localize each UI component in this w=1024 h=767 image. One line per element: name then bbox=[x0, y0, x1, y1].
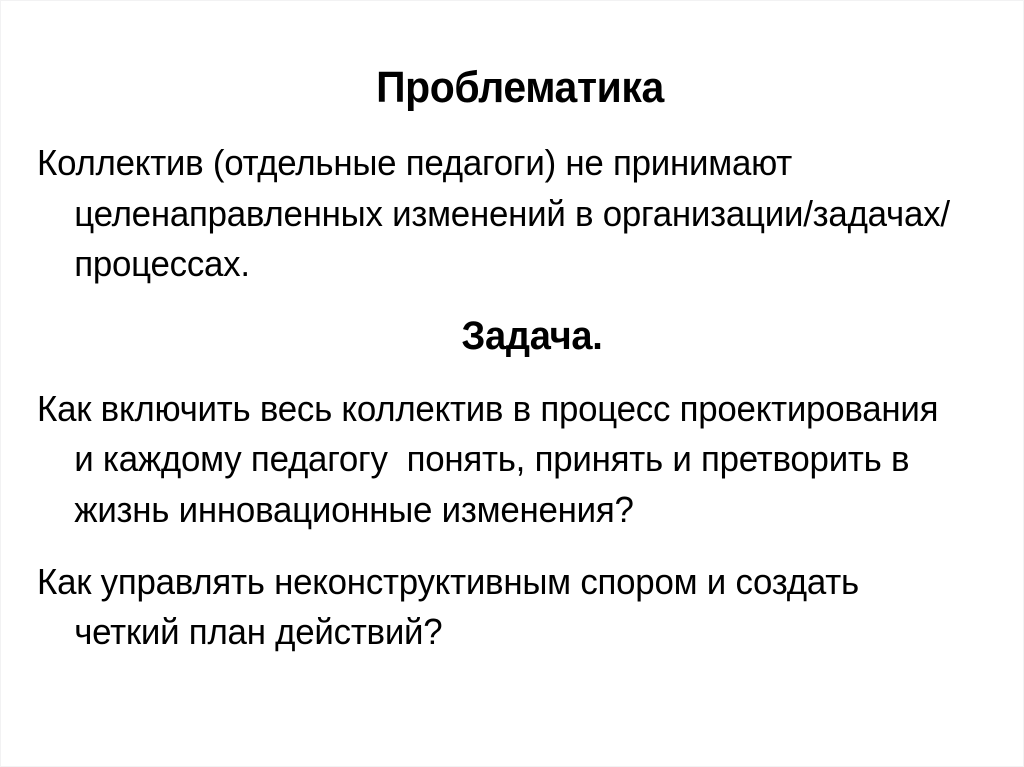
slide: Проблематика Коллектив (отдельные педаго… bbox=[0, 0, 1024, 767]
paragraph-task-question-1: Как включить весь коллектив в процесс пр… bbox=[37, 362, 960, 536]
paragraph-problem-statement: Коллектив (отдельные педагоги) не приним… bbox=[37, 112, 960, 290]
page-title: Проблематика bbox=[71, 1, 969, 112]
sub-heading-task: Задача. bbox=[73, 290, 991, 362]
slide-content-area: Проблематика Коллектив (отдельные педаго… bbox=[1, 1, 1024, 767]
paragraph-task-question-2: Как управлять неконструктивным спором и … bbox=[37, 536, 960, 658]
